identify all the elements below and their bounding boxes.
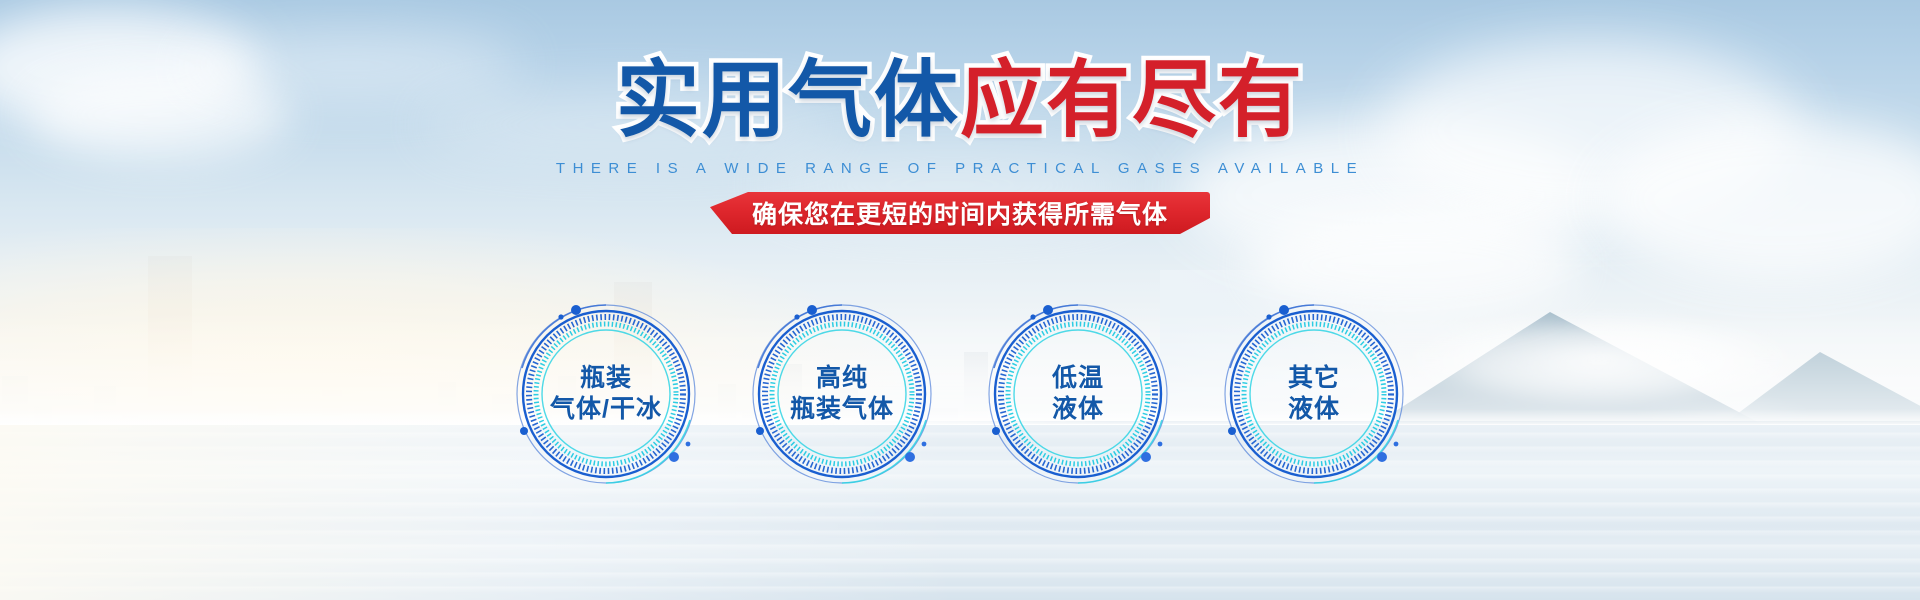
badge-high-purity-bottled-gas[interactable]: 高纯 瓶装气体 [748,300,936,488]
badge-label: 瓶装 气体/干冰 [512,300,700,488]
ribbon-label: 确保您在更短的时间内获得所需气体 [710,192,1210,234]
headline-red-text: 应有尽有 [960,53,1304,147]
hero-banner: 实用气体应有尽有 THERE IS A WIDE RANGE OF PRACTI… [0,0,1920,600]
badge-label-line1: 瓶装 [580,364,632,394]
badge-label: 其它 液体 [1220,300,1408,488]
badge-label-line1: 低温 [1052,364,1104,394]
badge-label: 高纯 瓶装气体 [748,300,936,488]
headline-blue-text: 实用气体 [616,53,960,147]
badge-row: 瓶装 气体/干冰 高纯 瓶装气体 [0,300,1920,488]
badge-cryogenic-liquid[interactable]: 低温 液体 [984,300,1172,488]
badge-label-line2: 瓶装气体 [790,395,894,425]
badge-bottled-gas-dry-ice[interactable]: 瓶装 气体/干冰 [512,300,700,488]
badge-label: 低温 液体 [984,300,1172,488]
badge-label-line1: 其它 [1288,364,1340,394]
badge-label-line2: 液体 [1052,395,1104,425]
badge-label-line1: 高纯 [816,364,868,394]
badge-other-liquid[interactable]: 其它 液体 [1220,300,1408,488]
badge-label-line2: 气体/干冰 [550,395,662,425]
badge-label-line2: 液体 [1288,395,1340,425]
ribbon-banner: 确保您在更短的时间内获得所需气体 [710,192,1210,234]
page-title: 实用气体应有尽有 [0,58,1920,142]
subtitle-english: THERE IS A WIDE RANGE OF PRACTICAL GASES… [0,160,1920,177]
